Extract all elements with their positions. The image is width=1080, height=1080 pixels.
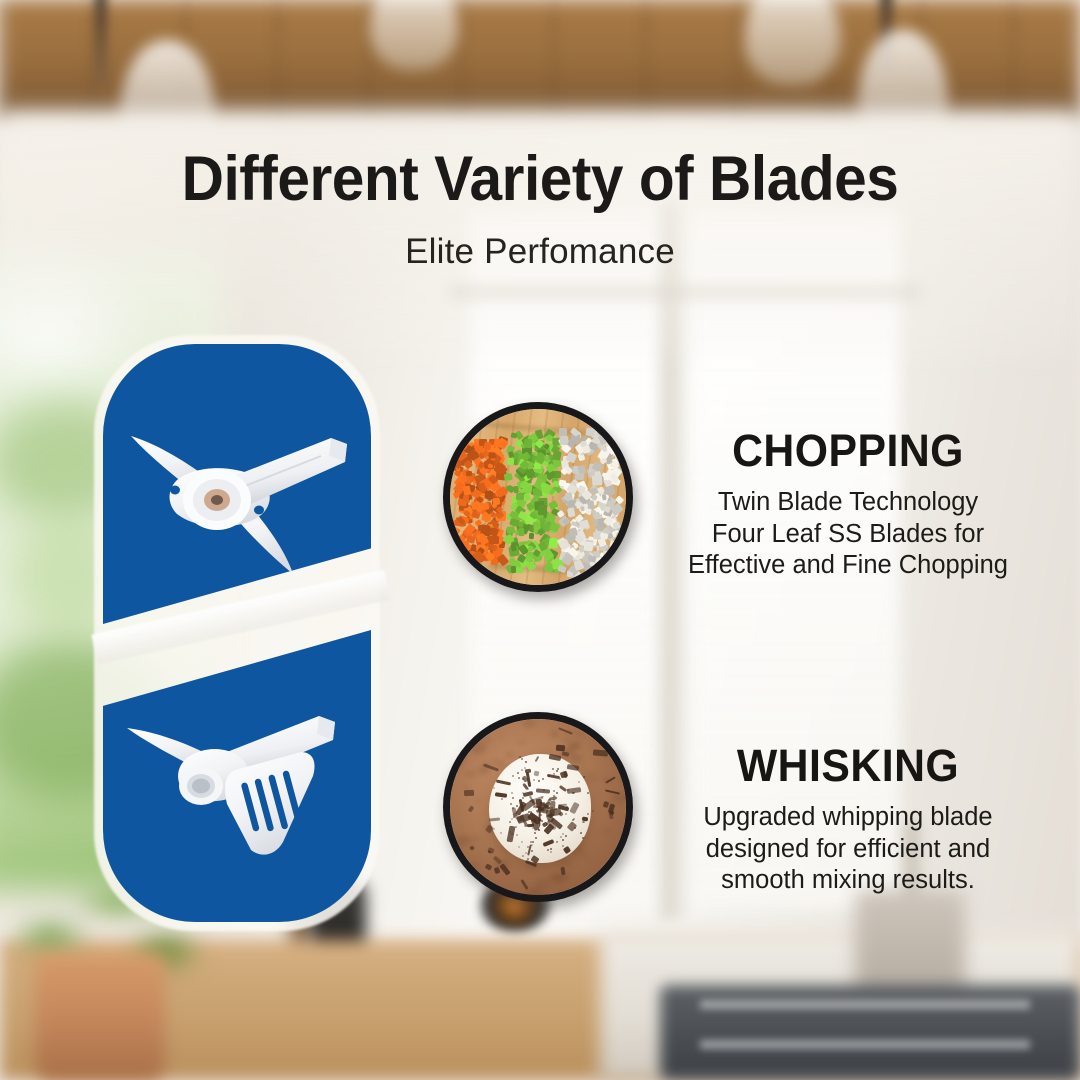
background-stove-grate-a [700,1000,1030,1009]
chocolate-shavings [450,719,626,895]
chocolate-mousse-photo [443,712,633,902]
page-title: Different Variety of Blades [38,148,1042,211]
chopped-vegetables-photo [443,402,633,592]
blade-showcase-panel [103,344,371,922]
feature-chopping-title: CHOPPING [658,425,1038,477]
chopping-blade-icon [125,414,355,584]
background-stove-grate-b [700,1040,1030,1049]
feature-whisking-title: WHISKING [658,740,1038,792]
whisking-blade-icon [123,700,353,870]
background-glass-rod-a [95,0,107,85]
background-plant-pot [35,955,165,1080]
diced-celery [505,409,563,585]
feature-chopping: CHOPPING Twin Blade Technology Four Leaf… [648,425,1048,582]
page-title-wrap: Different Variety of Blades [0,148,1080,211]
diced-onion [558,409,626,585]
feature-whisking: WHISKING Upgraded whipping blade designe… [648,740,1048,897]
infographic-canvas: Different Variety of Blades Elite Perfom… [0,0,1080,1080]
feature-chopping-description: Twin Blade Technology Four Leaf SS Blade… [648,487,1048,582]
background-hanging-glass-c [745,0,840,85]
background-hanging-glass-b [370,0,458,70]
feature-whisking-description: Upgraded whipping blade designed for eff… [648,802,1048,897]
diced-carrots [452,409,508,585]
page-subtitle: Elite Perfomance [0,232,1080,272]
